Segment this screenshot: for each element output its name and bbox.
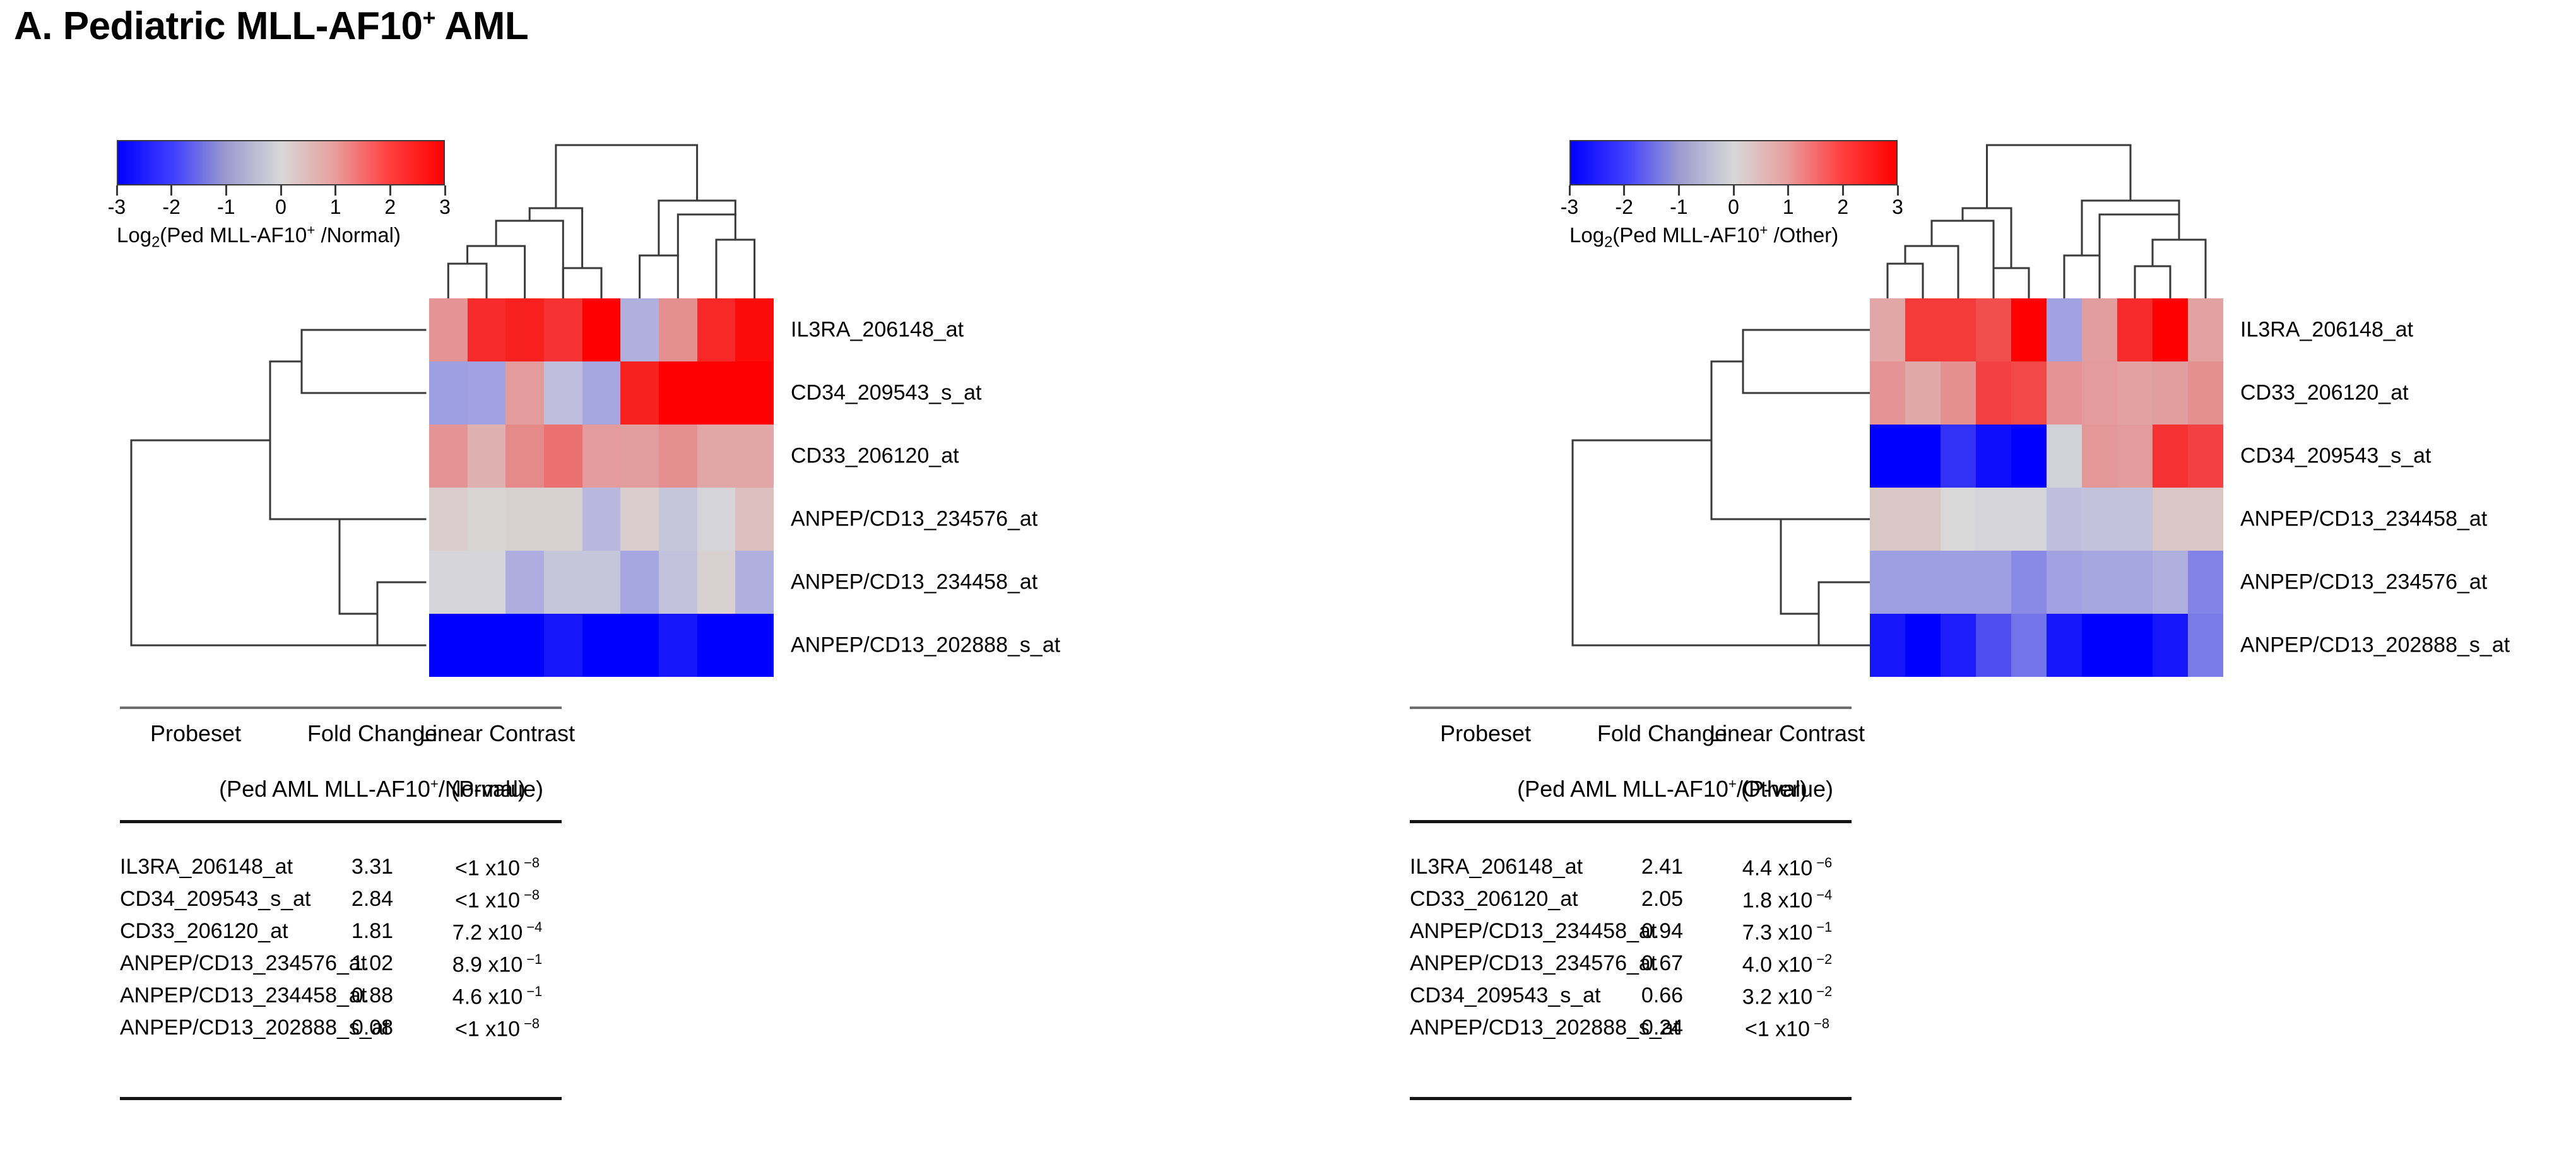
left-table-spacer [120, 1048, 562, 1097]
heatmap-cell [468, 298, 506, 361]
table-cell-fold-change: 0.66 [1641, 983, 1683, 1008]
right-heatmap [1870, 298, 2223, 677]
table-cell-pvalue: 7.3 x10 −1 [1742, 919, 1832, 945]
heatmap-cell [2188, 425, 2223, 488]
right-column-dendrogram [1870, 120, 2223, 298]
pvalue-mantissa: <1 [455, 1017, 485, 1041]
heatmap-cell [544, 551, 582, 614]
pvalue-exponent: −1 [523, 951, 542, 967]
table-cell-pvalue: <1 x10 −8 [455, 1016, 540, 1041]
right-colorbar-tick [1787, 185, 1789, 196]
heatmap-cell [582, 361, 621, 425]
heatmap-row-label: CD34_209543_s_at [2240, 444, 2431, 469]
pvalue-exponent: −8 [1810, 1016, 1829, 1031]
heatmap-cell [1976, 614, 2011, 677]
heatmap-row-label: CD34_209543_s_at [791, 381, 981, 406]
table-cell-fold-change: 0.24 [1641, 1016, 1683, 1040]
heatmap-cell [620, 614, 659, 677]
heatmap-cell [659, 298, 697, 361]
heatmap-cell [2153, 488, 2188, 551]
left-cb-post: /Normal) [315, 223, 401, 247]
left-table-body: IL3RA_206148_at3.31<1 x10 −8CD34_209543_… [120, 823, 562, 1048]
pvalue-mantissa: 4.6 [452, 985, 488, 1009]
right-colorbar-gradient [1569, 140, 1898, 185]
table-row: ANPEP/CD13_234576_at1.028.9 x10 −1 [120, 951, 562, 983]
left-colorbar-tick-label: -3 [108, 196, 126, 219]
right-colorbar-caption: Log2(Ped MLL-AF10+ /Other) [1569, 222, 1898, 252]
heatmap-cell [468, 488, 506, 551]
table-cell-probeset: ANPEP/CD13_234458_at [120, 983, 367, 1008]
pvalue-mantissa: 7.3 [1742, 920, 1778, 944]
left-colorbar-ticks [117, 185, 445, 196]
left-colorbar-tick-label: 0 [275, 196, 287, 219]
heatmap-cell [544, 298, 582, 361]
right-row-dendrogram [1472, 298, 1869, 677]
left-header-linear-contrast: Linear Contrast [420, 720, 575, 747]
heatmap-cell [697, 298, 736, 361]
pvalue-base: x10 [1778, 856, 1813, 880]
heatmap-cell [2117, 425, 2153, 488]
pvalue-mantissa: <1 [455, 856, 485, 880]
heatmap-cell [1870, 298, 1905, 361]
pvalue-mantissa: 4.4 [1742, 856, 1778, 880]
heatmap-cell [429, 425, 468, 488]
heatmap-cell [659, 488, 697, 551]
heatmap-cell [2047, 298, 2082, 361]
heatmap-cell [1976, 425, 2011, 488]
table-cell-probeset: CD33_206120_at [120, 919, 288, 944]
pvalue-exponent: −4 [1812, 887, 1832, 903]
table-cell-probeset: ANPEP/CD13_202888_s_at [120, 1016, 389, 1040]
left-colorbar-tick-label: -1 [217, 196, 235, 219]
heatmap-cell [505, 614, 544, 677]
heatmap-row-label: IL3RA_206148_at [791, 318, 964, 343]
heatmap-cell [1870, 361, 1905, 425]
right-cb-log: Log [1569, 223, 1604, 247]
table-cell-pvalue: <1 x10 −8 [455, 887, 540, 913]
table-cell-probeset: CD33_206120_at [1410, 887, 1578, 912]
table-row: CD33_206120_at2.051.8 x10 −4 [1410, 887, 1852, 919]
table-row: ANPEP/CD13_234458_at0.884.6 x10 −1 [120, 983, 562, 1016]
heatmap-cell [1905, 614, 1941, 677]
left-heatmap [429, 298, 774, 677]
heatmap-cell [505, 488, 544, 551]
right-cb-sup: + [1759, 222, 1768, 238]
heatmap-cell [2011, 614, 2047, 677]
table-cell-fold-change: 2.84 [352, 887, 393, 912]
left-colorbar-tick [225, 185, 227, 196]
right-colorbar-tick [1842, 185, 1844, 196]
heatmap-cell [1976, 551, 2011, 614]
heatmap-cell [429, 551, 468, 614]
table-cell-pvalue: 1.8 x10 −4 [1742, 887, 1832, 913]
heatmap-cell [2011, 488, 2047, 551]
heatmap-cell [1870, 551, 1905, 614]
table-cell-probeset: ANPEP/CD13_234458_at [1410, 919, 1657, 944]
heatmap-row-label: ANPEP/CD13_234576_at [2240, 570, 2487, 595]
table-cell-fold-change: 1.81 [352, 919, 393, 944]
left-header-probeset: Probeset [150, 720, 241, 747]
heatmap-cell [697, 614, 736, 677]
left-column-dendrogram [429, 120, 774, 298]
heatmap-cell [582, 425, 621, 488]
heatmap-cell [544, 488, 582, 551]
heatmap-cell [735, 488, 774, 551]
right-colorbar: -3-2-10123 Log2(Ped MLL-AF10+ /Other) [1569, 140, 1898, 252]
table-row: IL3RA_206148_at3.31<1 x10 −8 [120, 855, 562, 887]
heatmap-cell [1905, 425, 1941, 488]
heatmap-cell [2082, 551, 2117, 614]
heatmap-cell [544, 425, 582, 488]
right-colorbar-tick-label: -3 [1561, 196, 1578, 219]
heatmap-cell [659, 551, 697, 614]
right-header-fold-change: Fold Change [1597, 720, 1727, 747]
heatmap-cell [1941, 614, 1976, 677]
pvalue-mantissa: 3.2 [1742, 985, 1778, 1009]
heatmap-cell [582, 298, 621, 361]
heatmap-cell [544, 614, 582, 677]
heatmap-cell [2082, 298, 2117, 361]
right-table-body: IL3RA_206148_at2.414.4 x10 −6CD33_206120… [1410, 823, 1852, 1048]
table-cell-probeset: ANPEP/CD13_234576_at [120, 951, 367, 976]
pvalue-exponent: −2 [1812, 983, 1832, 999]
heatmap-cell [1905, 361, 1941, 425]
table-cell-pvalue: 8.9 x10 −1 [452, 951, 542, 977]
heatmap-cell [1905, 551, 1941, 614]
pvalue-exponent: −8 [520, 887, 540, 903]
right-colorbar-tick [1733, 185, 1735, 196]
table-cell-pvalue: 4.4 x10 −6 [1742, 855, 1832, 881]
table-cell-probeset: IL3RA_206148_at [120, 855, 293, 879]
heatmap-cell [2153, 298, 2188, 361]
heatmap-cell [2153, 425, 2188, 488]
pvalue-mantissa: <1 [1745, 1017, 1775, 1041]
left-colorbar-gradient [117, 140, 445, 185]
heatmap-cell [2153, 614, 2188, 677]
heatmap-cell [468, 425, 506, 488]
table-cell-probeset: ANPEP/CD13_202888_s_at [1410, 1016, 1679, 1040]
heatmap-cell [2011, 361, 2047, 425]
heatmap-cell [1870, 425, 1905, 488]
table-cell-pvalue: 4.0 x10 −2 [1742, 951, 1832, 977]
heatmap-row-label: ANPEP/CD13_234458_at [2240, 507, 2487, 532]
table-cell-probeset: ANPEP/CD13_234576_at [1410, 951, 1657, 976]
heatmap-cell [659, 361, 697, 425]
table-cell-pvalue: <1 x10 −8 [455, 855, 540, 881]
heatmap-cell [1976, 488, 2011, 551]
pvalue-base: x10 [485, 856, 520, 880]
table-cell-probeset: CD34_209543_s_at [120, 887, 310, 912]
heatmap-cell [2082, 488, 2117, 551]
heatmap-row-label: ANPEP/CD13_202888_s_at [2240, 633, 2510, 658]
pvalue-mantissa: 8.9 [452, 953, 488, 976]
right-colorbar-tick [1569, 185, 1571, 196]
table-cell-fold-change: 0.67 [1641, 951, 1683, 976]
heatmap-cell [735, 361, 774, 425]
heatmap-cell [2188, 361, 2223, 425]
pvalue-base: x10 [488, 920, 523, 944]
heatmap-cell [1905, 488, 1941, 551]
right-cb-post: /Other) [1768, 223, 1838, 247]
heatmap-cell [2188, 488, 2223, 551]
heatmap-cell [2117, 361, 2153, 425]
table-cell-probeset: IL3RA_206148_at [1410, 855, 1583, 879]
heatmap-row-label: ANPEP/CD13_234458_at [791, 570, 1037, 595]
heatmap-cell [2117, 298, 2153, 361]
table-cell-pvalue: 7.2 x10 −4 [452, 919, 542, 945]
heatmap-cell [505, 361, 544, 425]
left-colorbar-tick [389, 185, 391, 196]
pvalue-base: x10 [1778, 920, 1813, 944]
pvalue-mantissa: 7.2 [452, 920, 488, 944]
heatmap-cell [697, 425, 736, 488]
table-row: CD34_209543_s_at2.84<1 x10 −8 [120, 887, 562, 919]
heatmap-cell [1870, 614, 1905, 677]
left-colorbar: -3-2-10123 Log2(Ped MLL-AF10+ /Normal) [117, 140, 445, 252]
left-cb-sup: + [307, 222, 315, 238]
heatmap-cell [2188, 614, 2223, 677]
right-header-linear-contrast: Linear Contrast [1710, 720, 1865, 747]
heatmap-cell [2047, 614, 2082, 677]
table-cell-fold-change: 2.05 [1641, 887, 1683, 912]
table-cell-pvalue: <1 x10 −8 [1745, 1016, 1829, 1041]
heatmap-cell [2153, 551, 2188, 614]
left-colorbar-tick-label: 1 [330, 196, 341, 219]
heatmap-cell [1976, 298, 2011, 361]
pvalue-exponent: −8 [520, 1016, 540, 1031]
heatmap-cell [2082, 425, 2117, 488]
right-panel: -3-2-10123 Log2(Ped MLL-AF10+ /Other) [1289, 0, 2576, 1155]
heatmap-cell [735, 614, 774, 677]
right-colorbar-ticks [1569, 185, 1898, 196]
pvalue-base: x10 [1778, 888, 1813, 912]
left-colorbar-tick-label: -2 [162, 196, 180, 219]
left-header-pvalue: (P-value) [451, 776, 543, 802]
table-cell-pvalue: 3.2 x10 −2 [1742, 983, 1832, 1009]
pvalue-base: x10 [1775, 1017, 1810, 1041]
right-colorbar-tick-label: 1 [1783, 196, 1794, 219]
heatmap-cell [582, 488, 621, 551]
heatmap-cell [697, 551, 736, 614]
table-cell-probeset: CD34_209543_s_at [1410, 983, 1600, 1008]
pvalue-exponent: −6 [1812, 855, 1832, 871]
heatmap-cell [1941, 551, 1976, 614]
heatmap-cell [429, 614, 468, 677]
heatmap-cell [620, 425, 659, 488]
right-table-header: Probeset Fold Change (Ped AML MLL-AF10+/… [1410, 709, 1852, 820]
heatmap-cell [582, 614, 621, 677]
left-panel: -3-2-10123 Log2(Ped MLL-AF10+ /Normal) [0, 0, 1287, 1155]
heatmap-cell [659, 614, 697, 677]
table-cell-fold-change: 0.88 [352, 983, 393, 1008]
left-row-dendrogram [24, 298, 425, 677]
heatmap-cell [505, 425, 544, 488]
heatmap-cell [2188, 551, 2223, 614]
left-colorbar-caption: Log2(Ped MLL-AF10+ /Normal) [117, 222, 445, 252]
left-cb-sub: 2 [151, 234, 160, 251]
right-colorbar-tick-label: 0 [1728, 196, 1739, 219]
heatmap-cell [620, 551, 659, 614]
table-cell-fold-change: 1.02 [352, 951, 393, 976]
heatmap-cell [429, 298, 468, 361]
heatmap-cell [659, 425, 697, 488]
heatmap-cell [582, 551, 621, 614]
heatmap-cell [697, 361, 736, 425]
heatmap-cell [2082, 361, 2117, 425]
right-header-probeset: Probeset [1440, 720, 1531, 747]
left-colorbar-tick [334, 185, 336, 196]
pvalue-mantissa: 1.8 [1742, 888, 1778, 912]
left-heatmap-row-labels: IL3RA_206148_atCD34_209543_s_atCD33_2061… [791, 298, 1169, 677]
left-colorbar-tick [116, 185, 118, 196]
heatmap-cell [1976, 361, 2011, 425]
table-row: ANPEP/CD13_234458_at0.947.3 x10 −1 [1410, 919, 1852, 951]
pvalue-mantissa: <1 [455, 888, 485, 912]
heatmap-cell [1905, 298, 1941, 361]
heatmap-cell [2047, 425, 2082, 488]
heatmap-cell [468, 551, 506, 614]
heatmap-cell [2011, 425, 2047, 488]
left-colorbar-tick [280, 185, 282, 196]
heatmap-row-label: ANPEP/CD13_234576_at [791, 507, 1037, 532]
right-table-rule-bottom [1410, 1097, 1852, 1100]
table-row: CD33_206120_at1.817.2 x10 −4 [120, 919, 562, 951]
heatmap-cell [1941, 361, 1976, 425]
left-cb-log: Log [117, 223, 151, 247]
pvalue-exponent: −1 [523, 983, 542, 999]
right-table-spacer [1410, 1048, 1852, 1097]
right-colorbar-tick-label: 2 [1837, 196, 1848, 219]
heatmap-cell [1941, 488, 1976, 551]
heatmap-cell [2011, 298, 2047, 361]
heatmap-cell [544, 361, 582, 425]
pvalue-base: x10 [488, 985, 523, 1009]
right-results-table: Probeset Fold Change (Ped AML MLL-AF10+/… [1410, 706, 1852, 1100]
heatmap-cell [2117, 614, 2153, 677]
table-cell-fold-change: 2.41 [1641, 855, 1683, 879]
heatmap-cell [735, 298, 774, 361]
table-cell-fold-change: 0.08 [352, 1016, 393, 1040]
heatmap-cell [735, 551, 774, 614]
table-row: IL3RA_206148_at2.414.4 x10 −6 [1410, 855, 1852, 887]
right-cb-mid: (Ped MLL-AF10 [1612, 223, 1759, 247]
heatmap-cell [2047, 488, 2082, 551]
pvalue-exponent: −4 [523, 919, 542, 935]
pvalue-base: x10 [485, 1017, 520, 1041]
right-header-pvalue: (P-value) [1741, 776, 1833, 802]
pvalue-base: x10 [1778, 953, 1813, 976]
right-heatmap-row-labels: IL3RA_206148_atCD33_206120_atCD34_209543… [2240, 298, 2576, 677]
heatmap-cell [697, 488, 736, 551]
heatmap-cell [2117, 551, 2153, 614]
heatmap-row-label: CD33_206120_at [791, 444, 959, 469]
right-colorbar-tick [1623, 185, 1625, 196]
heatmap-cell [505, 551, 544, 614]
table-cell-fold-change: 3.31 [352, 855, 393, 879]
right-cb-sub: 2 [1604, 234, 1612, 251]
right-colorbar-tick-label: -1 [1670, 196, 1687, 219]
heatmap-cell [2188, 298, 2223, 361]
table-row: ANPEP/CD13_234576_at0.674.0 x10 −2 [1410, 951, 1852, 983]
table-row: ANPEP/CD13_202888_s_at0.08<1 x10 −8 [120, 1016, 562, 1048]
pvalue-mantissa: 4.0 [1742, 953, 1778, 976]
left-colorbar-tick-labels: -3-2-10123 [117, 196, 445, 221]
table-cell-fold-change: 0.94 [1641, 919, 1683, 944]
pvalue-exponent: −1 [1812, 919, 1832, 935]
heatmap-cell [2153, 361, 2188, 425]
heatmap-cell [2047, 361, 2082, 425]
heatmap-cell [2082, 614, 2117, 677]
heatmap-row-label: ANPEP/CD13_202888_s_at [791, 633, 1060, 658]
heatmap-cell [2047, 551, 2082, 614]
left-colorbar-tick [170, 185, 172, 196]
heatmap-cell [620, 298, 659, 361]
table-row: CD34_209543_s_at0.663.2 x10 −2 [1410, 983, 1852, 1016]
heatmap-cell [2117, 488, 2153, 551]
heatmap-cell [429, 361, 468, 425]
heatmap-row-label: IL3RA_206148_at [2240, 318, 2413, 343]
table-row: ANPEP/CD13_202888_s_at0.24<1 x10 −8 [1410, 1016, 1852, 1048]
pvalue-exponent: −8 [520, 855, 540, 871]
left-colorbar-tick-label: 2 [384, 196, 396, 219]
heatmap-cell [620, 488, 659, 551]
right-colorbar-tick [1678, 185, 1680, 196]
heatmap-cell [1870, 488, 1905, 551]
heatmap-cell [620, 361, 659, 425]
heatmap-cell [735, 425, 774, 488]
heatmap-cell [468, 361, 506, 425]
figure-panel-a: A. Pediatric MLL-AF10+ AML -3-2-10123 Lo… [0, 0, 2576, 1155]
heatmap-row-label: CD33_206120_at [2240, 381, 2409, 406]
left-results-table: Probeset Fold Change (Ped AML MLL-AF10+/… [120, 706, 562, 1100]
pvalue-base: x10 [1778, 985, 1813, 1009]
heatmap-cell [429, 488, 468, 551]
heatmap-cell [505, 298, 544, 361]
heatmap-cell [1941, 425, 1976, 488]
pvalue-base: x10 [485, 888, 520, 912]
heatmap-cell [468, 614, 506, 677]
pvalue-exponent: −2 [1812, 951, 1832, 967]
table-cell-pvalue: 4.6 x10 −1 [452, 983, 542, 1009]
heatmap-cell [2011, 551, 2047, 614]
heatmap-cell [1941, 298, 1976, 361]
right-colorbar-tick-labels: -3-2-10123 [1569, 196, 1898, 221]
pvalue-base: x10 [488, 953, 523, 976]
right-colorbar-tick-label: -2 [1615, 196, 1633, 219]
left-header-fold-change: Fold Change [307, 720, 437, 747]
left-table-header: Probeset Fold Change (Ped AML MLL-AF10+/… [120, 709, 562, 820]
left-cb-mid: (Ped MLL-AF10 [160, 223, 307, 247]
left-table-rule-bottom [120, 1097, 562, 1100]
